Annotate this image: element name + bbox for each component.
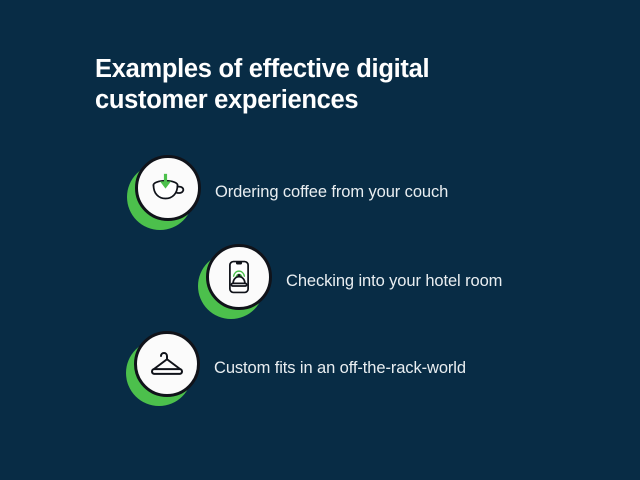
list-item: Ordering coffee from your couch (127, 155, 448, 229)
icon-badge (126, 331, 200, 405)
phone-service-bell-icon (206, 244, 272, 310)
list-item-label: Ordering coffee from your couch (215, 183, 448, 202)
list-item: Checking into your hotel room (198, 244, 502, 318)
page-title-line-2: customer experiences (95, 85, 525, 116)
clothes-hanger-icon (134, 331, 200, 397)
coffee-cup-download-icon (135, 155, 201, 221)
slide-canvas: Examples of effective digital customer e… (0, 0, 640, 480)
list-item-label: Custom fits in an off-the-rack-world (214, 359, 466, 378)
icon-badge (198, 244, 272, 318)
icon-badge (127, 155, 201, 229)
page-title-line-1: Examples of effective digital (95, 54, 525, 85)
page-title: Examples of effective digital customer e… (95, 54, 525, 116)
list-item: Custom fits in an off-the-rack-world (126, 331, 466, 405)
list-item-label: Checking into your hotel room (286, 272, 502, 291)
